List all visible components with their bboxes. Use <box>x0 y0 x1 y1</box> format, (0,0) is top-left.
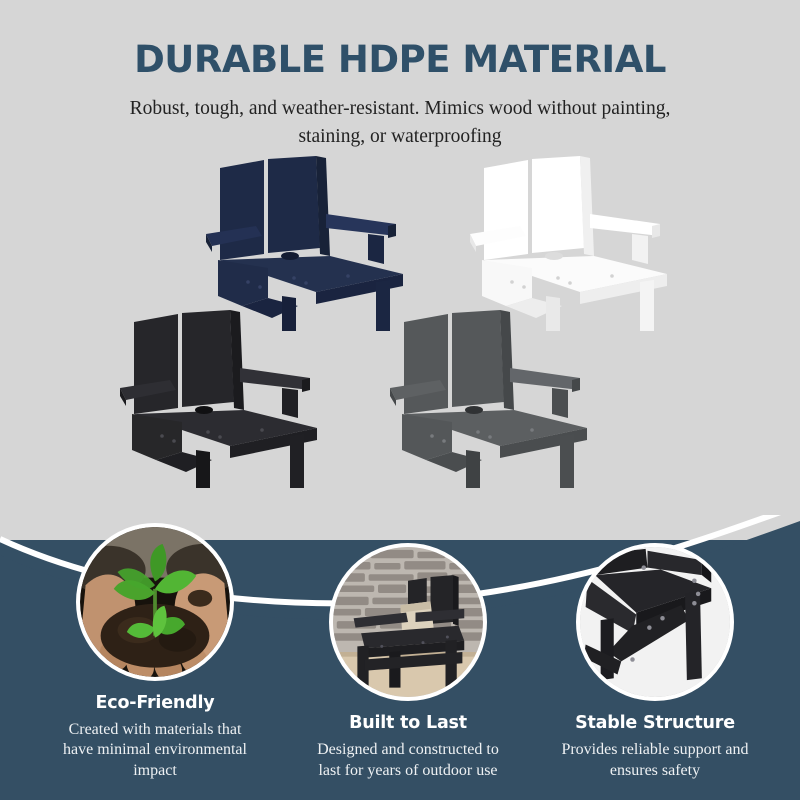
header-block: DURABLE HDPE MATERIAL Robust, tough, and… <box>0 0 800 151</box>
feature-description: Provides reliable support and ensures sa… <box>553 740 758 782</box>
feature-description: Designed and constructed to last for yea… <box>306 740 511 782</box>
feature-item-stable-structure: Stable Structure Provides reliable suppo… <box>530 543 780 782</box>
feature-description: Created with materials that have minimal… <box>53 720 258 782</box>
feature-list: Eco-Friendly Created with materials that… <box>0 480 800 800</box>
black-chair-stone-wall-icon <box>329 543 487 701</box>
gray-adirondack-chair <box>382 308 607 488</box>
feature-title: Built to Last <box>283 713 533 733</box>
feature-title: Stable Structure <box>530 713 780 733</box>
black-adirondack-chair <box>112 308 337 488</box>
hands-holding-seedling-icon <box>76 523 234 681</box>
page-subtitle: Robust, tough, and weather-resistant. Mi… <box>110 95 690 152</box>
feature-item-eco-friendly: Eco-Friendly Created with materials that… <box>30 523 280 782</box>
infographic-page: DURABLE HDPE MATERIAL Robust, tough, and… <box>0 0 800 800</box>
feature-item-built-to-last: Built to Last Designed and constructed t… <box>283 543 533 782</box>
chair-frame-closeup-icon <box>576 543 734 701</box>
feature-title: Eco-Friendly <box>30 693 280 713</box>
chair-gallery <box>0 150 800 510</box>
page-title: DURABLE HDPE MATERIAL <box>0 40 800 81</box>
white-adirondack-chair <box>462 156 687 331</box>
navy-adirondack-chair <box>198 156 423 331</box>
